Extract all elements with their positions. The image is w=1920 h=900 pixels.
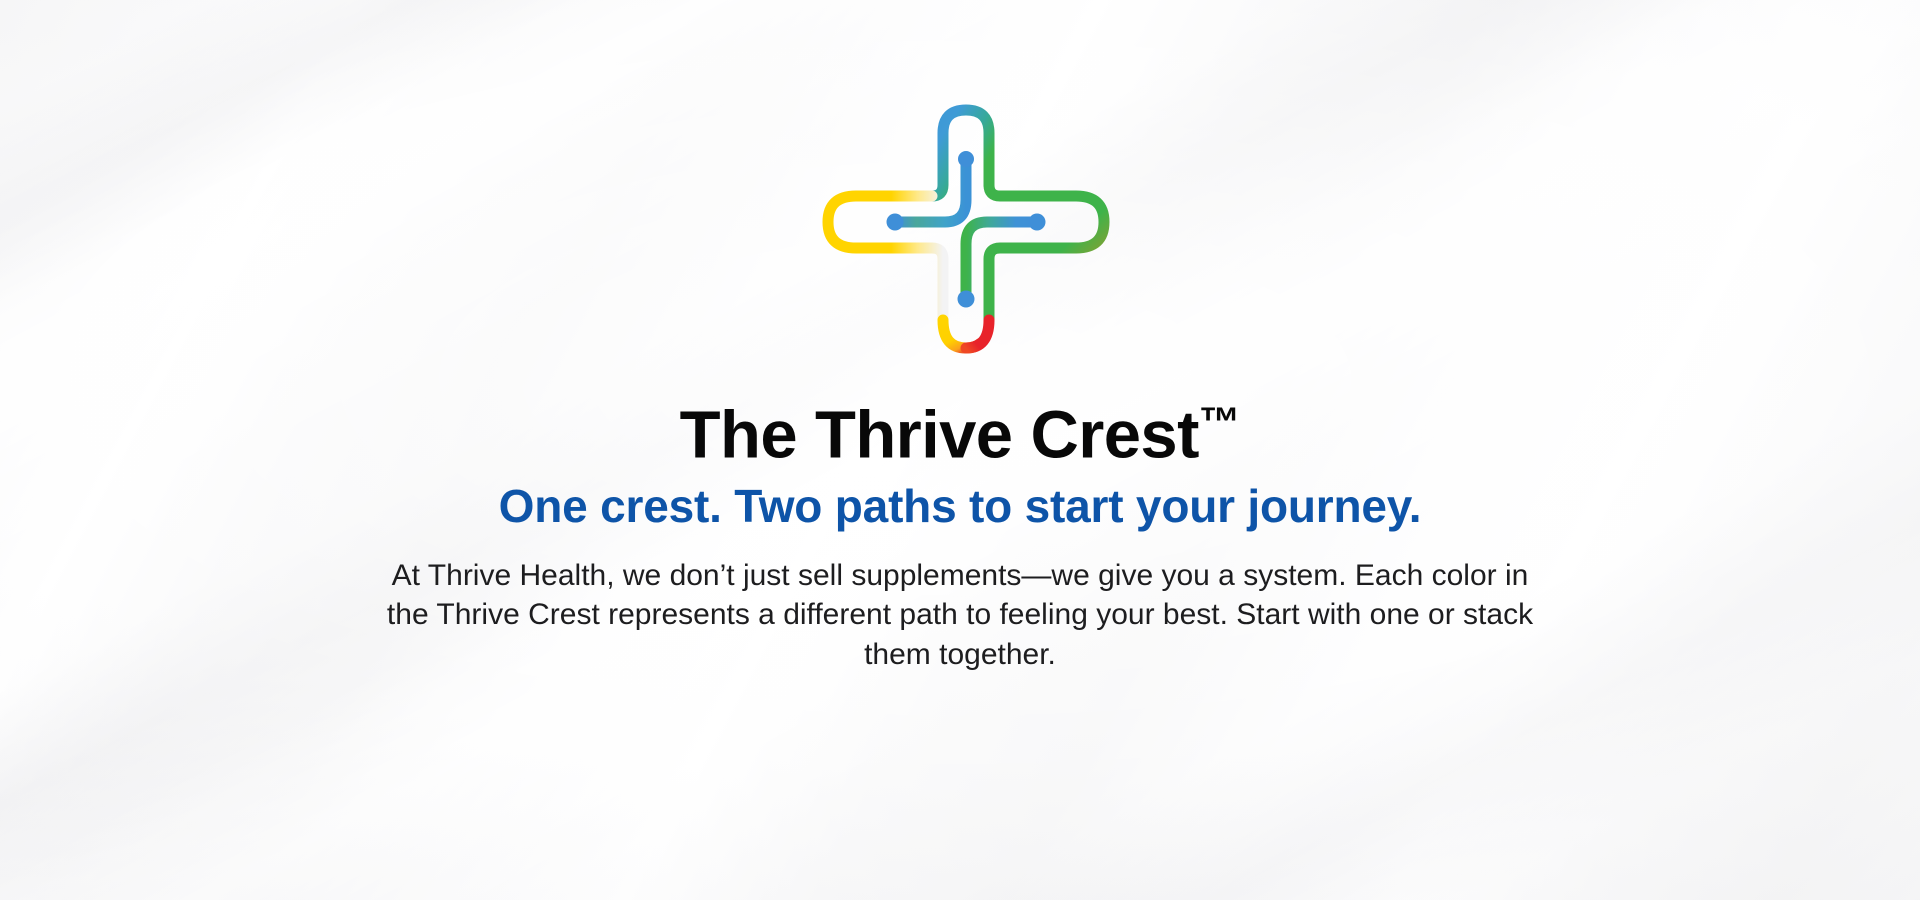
hero-content: The Thrive Crest™ One crest. Two paths t… <box>0 0 1920 900</box>
node-dot-bottom <box>958 291 975 308</box>
trademark-symbol: ™ <box>1199 398 1241 445</box>
page-subtitle: One crest. Two paths to start your journ… <box>499 481 1422 532</box>
node-dot-left <box>887 214 904 231</box>
hero-description: At Thrive Health, we don’t just sell sup… <box>370 556 1550 676</box>
page-title: The Thrive Crest™ <box>680 400 1241 471</box>
hero-section: The Thrive Crest™ One crest. Two paths t… <box>0 0 1920 900</box>
page-title-text: The Thrive Crest <box>680 398 1199 473</box>
thrive-crest-logo-icon <box>795 84 1125 384</box>
node-dot-right <box>1029 214 1046 231</box>
node-dot-top <box>958 151 974 167</box>
